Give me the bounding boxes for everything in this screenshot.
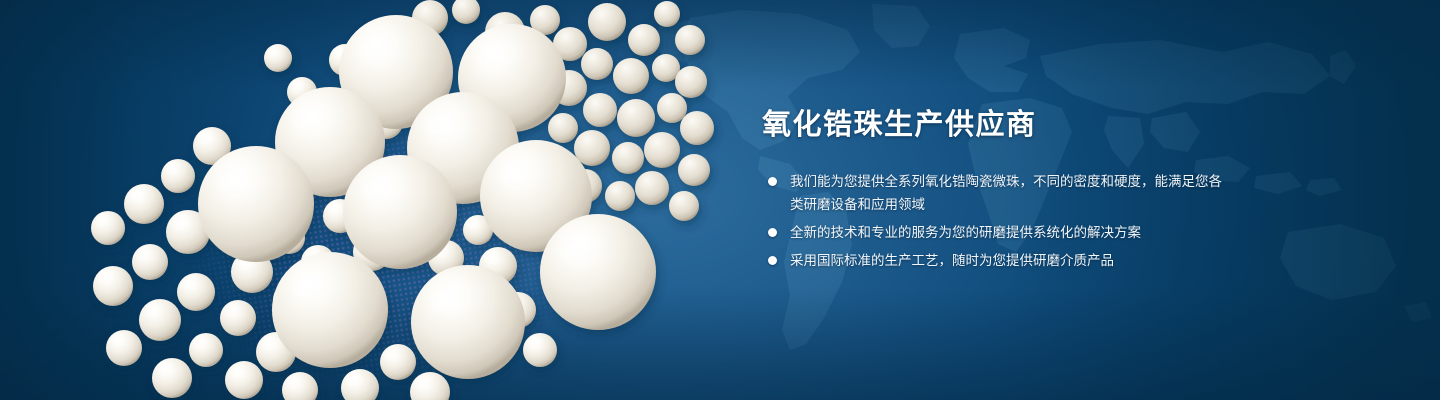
feature-text: 全新的技术和专业的服务为您的研磨提供系统化的解决方案 — [790, 221, 1232, 244]
list-item: 全新的技术和专业的服务为您的研磨提供系统化的解决方案 — [762, 221, 1232, 244]
bullet-dot-icon — [768, 256, 777, 265]
zirconia-bead-cluster-image — [0, 0, 760, 400]
list-item: 我们能为您提供全系列氧化锆陶瓷微珠，不同的密度和硬度，能满足您各类研磨设备和应用… — [762, 170, 1232, 216]
page-title: 氧化锆珠生产供应商 — [762, 108, 1232, 142]
bullet-dot-icon — [768, 228, 777, 237]
marketing-copy-block: 氧化锆珠生产供应商 我们能为您提供全系列氧化锆陶瓷微珠，不同的密度和硬度，能满足… — [762, 108, 1232, 277]
feature-text: 我们能为您提供全系列氧化锆陶瓷微珠，不同的密度和硬度，能满足您各类研磨设备和应用… — [790, 170, 1232, 216]
bullet-dot-icon — [768, 177, 777, 186]
feature-text: 采用国际标准的生产工艺，随时为您提供研磨介质产品 — [790, 249, 1232, 272]
product-hero-banner: 氧化锆珠生产供应商 我们能为您提供全系列氧化锆陶瓷微珠，不同的密度和硬度，能满足… — [0, 0, 1440, 400]
feature-bullet-list: 我们能为您提供全系列氧化锆陶瓷微珠，不同的密度和硬度，能满足您各类研磨设备和应用… — [762, 170, 1232, 272]
list-item: 采用国际标准的生产工艺，随时为您提供研磨介质产品 — [762, 249, 1232, 272]
